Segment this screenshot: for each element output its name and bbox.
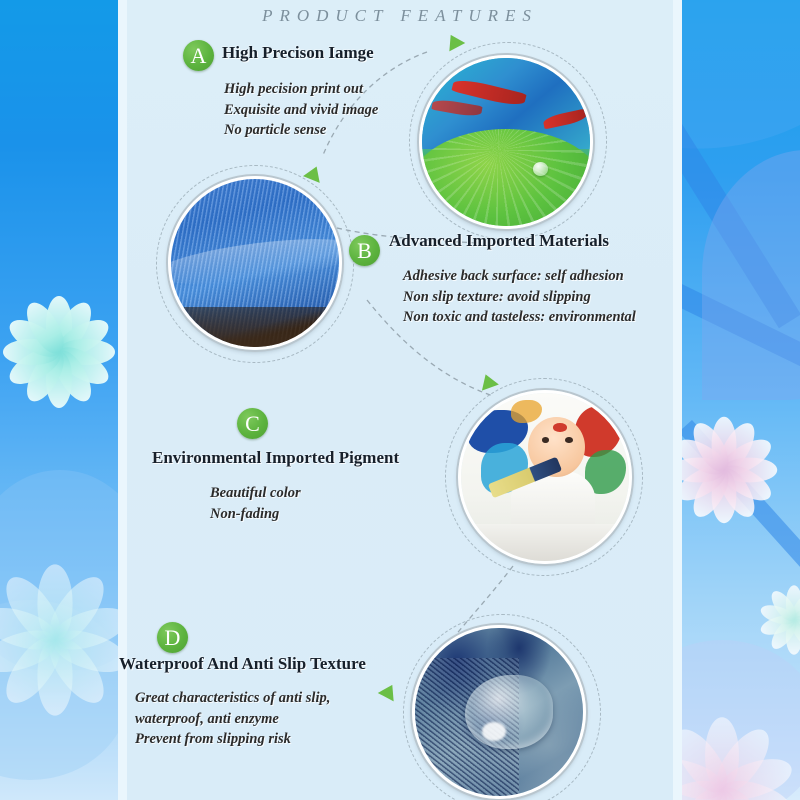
photo-image: [171, 179, 339, 347]
blue-ribbed-fabric-photo: [168, 176, 342, 350]
water-droplet-texture-photo: [412, 625, 586, 799]
content-panel: PRODUCT FEATURES A High Precison Iamge: [127, 0, 673, 800]
paint-mat: [461, 524, 629, 561]
bullet-line: Exquisite and vivid image: [224, 100, 378, 121]
paint-smudge: [553, 423, 566, 431]
koi-fish-lotus-print-photo: [419, 55, 593, 229]
bullet-line: Great characteristics of anti slip,: [135, 688, 330, 709]
baby-with-paintbrush-photo: [458, 390, 632, 564]
paint-splash: [511, 400, 541, 424]
bead-highlight: [482, 722, 506, 740]
baby-eye: [565, 437, 573, 443]
left-gap-divider: [118, 0, 127, 800]
bullet-line: Prevent from slipping risk: [135, 729, 330, 750]
right-gap-divider: [673, 0, 682, 800]
bullet-line: Non-fading: [210, 504, 301, 525]
feature-bullets-a: High pecision print out Exquisite and vi…: [224, 79, 378, 141]
feature-heading-d: Waterproof And Anti Slip Texture: [119, 654, 366, 674]
green-arrow-up-icon: [443, 31, 465, 52]
feature-bullets-d: Great characteristics of anti slip, wate…: [135, 688, 330, 750]
shadow-band: [171, 307, 339, 347]
photo-image: [461, 393, 629, 561]
page-title: PRODUCT FEATURES: [127, 6, 673, 26]
bullet-line: Non toxic and tasteless: environmental: [403, 307, 636, 328]
bullet-line: High pecision print out: [224, 79, 378, 100]
water-drop: [533, 162, 548, 175]
left-decor-border: [0, 0, 118, 800]
water-bead: [465, 675, 552, 749]
infographic-canvas: PRODUCT FEATURES A High Precison Iamge: [0, 0, 800, 800]
bullet-line: Adhesive back surface: self adhesion: [403, 266, 636, 287]
photo-image: [415, 628, 583, 796]
feature-badge-a: A: [183, 40, 214, 71]
feature-bullets-b: Adhesive back surface: self adhesion Non…: [403, 266, 636, 328]
feature-badge-d: D: [157, 622, 188, 653]
green-arrow-up-icon: [477, 371, 499, 390]
feature-heading-c: Environmental Imported Pigment: [152, 448, 399, 468]
feature-heading-a: High Precison Iamge: [222, 43, 374, 63]
feature-bullets-c: Beautiful color Non-fading: [210, 483, 301, 524]
green-arrow-up-icon: [378, 681, 400, 702]
baby-eye: [542, 437, 550, 443]
leaf-veins: [419, 129, 593, 229]
bullet-line: Non slip texture: avoid slipping: [403, 287, 636, 308]
bullet-line: Beautiful color: [210, 483, 301, 504]
bullet-line: waterproof, anti enzyme: [135, 709, 330, 730]
bullet-line: No particle sense: [224, 120, 378, 141]
photo-image: [422, 58, 590, 226]
feature-heading-b: Advanced Imported Materials: [389, 231, 609, 251]
right-decor-border: [682, 0, 800, 800]
feature-badge-c: C: [237, 408, 268, 439]
feature-badge-b: B: [349, 235, 380, 266]
